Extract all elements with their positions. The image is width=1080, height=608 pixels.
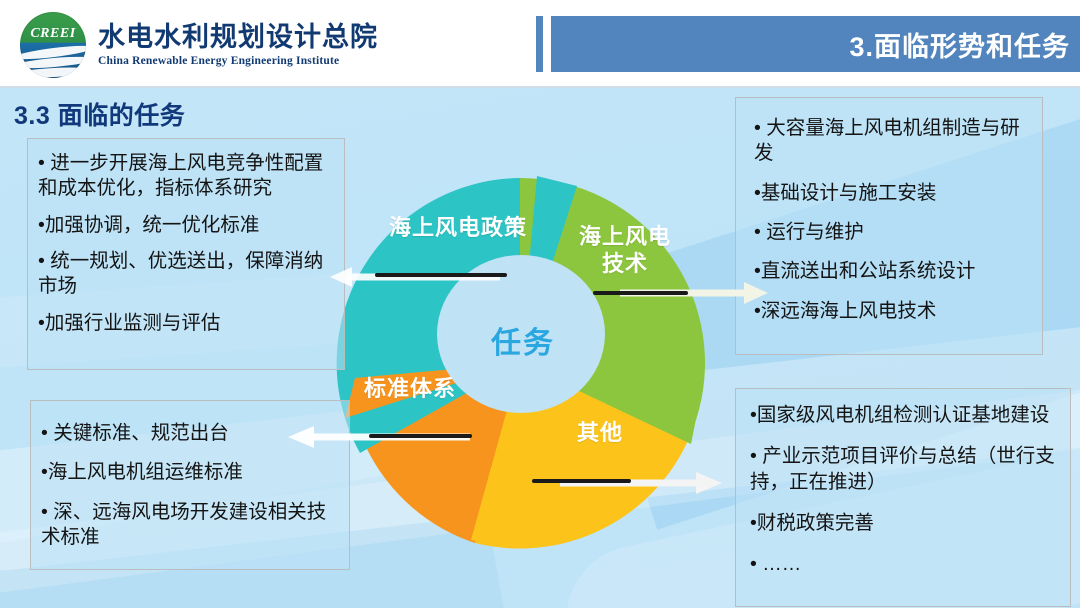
donut-label-underline-std xyxy=(369,434,472,438)
donut-label-underline-tech xyxy=(593,291,688,295)
connector-arrows xyxy=(0,0,1080,608)
creei-logo-icon: CREEI xyxy=(20,12,86,78)
header-title-text: 3.面临形势和任务 xyxy=(849,25,1080,64)
slide-header: CREEI 水电水利规划设计总院 China Renewable Energy … xyxy=(0,0,1080,88)
logo-mark-text: CREEI xyxy=(20,26,86,42)
connector-other xyxy=(560,472,722,494)
logo-text-block: 水电水利规划设计总院 China Renewable Energy Engine… xyxy=(98,23,378,68)
header-accent-bar xyxy=(536,16,543,72)
header-divider xyxy=(0,86,1080,88)
organization-logo: CREEI 水电水利规划设计总院 China Renewable Energy … xyxy=(20,12,378,78)
section-title: 3.3 面临的任务 xyxy=(14,96,185,132)
slide-root: CREEI 水电水利规划设计总院 China Renewable Energy … xyxy=(0,0,1080,608)
org-name-en: China Renewable Energy Engineering Insti… xyxy=(98,55,378,67)
donut-label-underline-policy xyxy=(375,273,507,277)
connector-policy xyxy=(330,267,500,287)
header-title-banner: 3.面临形势和任务 xyxy=(551,16,1080,72)
donut-label-underline-other xyxy=(532,479,631,483)
org-name-cn: 水电水利规划设计总院 xyxy=(98,23,378,53)
